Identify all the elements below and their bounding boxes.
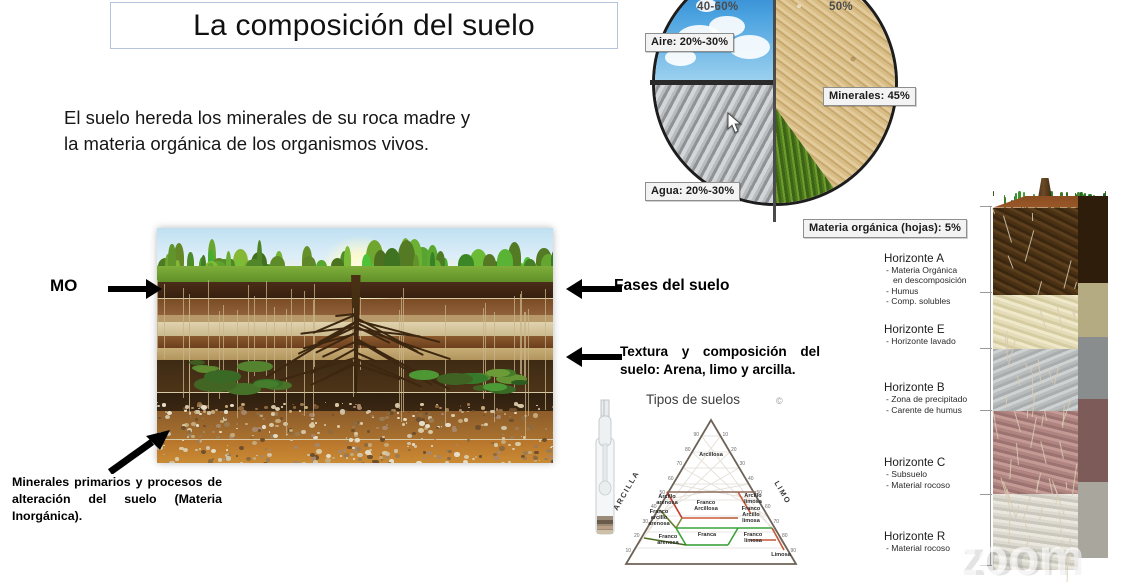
triangle-region-franco-arcillosa: Franco Arcillosa [688,500,724,512]
label-minerales-primarios: Minerales primarios y procesos de altera… [12,474,222,525]
pie-group-label-left: 40-60% [697,1,738,13]
label-textura-composicion: Textura y composición del suelo: Arena, … [620,343,820,378]
intro-line-1: El suelo hereda los minerales de su roca… [64,105,584,131]
horizon-legend: Horizonte A - Materia Orgánica en descom… [884,252,980,554]
triangle-region-arcillo-limosa: Arcillo limosa [738,493,768,505]
horizon-b-detail-1: - Zona de precipitado [884,394,980,404]
triangle-region-franco-arcillo-limosa: Franco Arcillo limosa [736,506,766,524]
horizon-b-detail-2: - Carente de humus [884,405,980,415]
pie-vertical-divider [773,0,776,222]
triangle-region-franco-arenosa: Franco arenosa [653,534,683,546]
triangle-region-arcillosa: Arcillosa [690,452,732,458]
label-fases-del-suelo: Fases del suelo [614,277,729,295]
side-layer-a [1078,196,1108,283]
horizon-e-title: Horizonte E [884,323,980,336]
horizon-entry-c: Horizonte C - Subsuelo - Material rocoso [884,456,980,490]
soil-hydrometer-apparatus [592,398,618,538]
horizon-c-title: Horizonte C [884,456,980,469]
copyright-icon: © [776,396,783,406]
callout-materia-organica: Materia orgánica (hojas): 5% [803,219,967,238]
side-layer-e [1078,283,1108,337]
horizon-depth-bracket [978,206,992,566]
side-layer-b [1078,337,1108,399]
horizon-a-detail-3: - Humus [884,286,980,296]
horizon-c-detail-1: - Subsuelo [884,469,980,479]
horizon-a-title: Horizonte A [884,252,980,265]
slide-title-box: La composición del suelo [110,2,618,49]
soil-cross-section-image [157,228,553,463]
pie-horizontal-divider [650,80,776,85]
horizon-a-detail-1: - Materia Orgánica [884,265,980,275]
callout-agua: Agua: 20%-30% [645,182,740,201]
page-title: La composición del suelo [193,9,535,43]
triangle-title: Tipos de suelos [646,392,740,407]
triangle-region-franco-arcillo-arenosa: Franco arcillo arenosa [644,509,674,527]
horizon-entry-a: Horizonte A - Materia Orgánica en descom… [884,252,980,307]
intro-line-2: la materia orgánica de los organismos vi… [64,131,584,157]
zoom-watermark: zoom [952,528,1084,588]
column-side-face [1078,196,1108,558]
triangle-region-franca: Franca [692,532,722,538]
horizon-entry-e: Horizonte E - Horizonte lavado [884,323,980,346]
side-layer-c [1078,399,1108,482]
callout-minerales: Minerales: 45% [823,87,916,106]
label-mo: MO [50,276,77,296]
soil-profile-column-image [993,196,1108,570]
column-front-face [993,208,1078,570]
triangle-svg [620,414,802,570]
mouse-cursor [727,112,743,134]
horizon-a-detail-2: en descomposición [884,275,980,285]
horizon-e-detail-1: - Horizonte lavado [884,336,980,346]
callout-aire: Aire: 20%-30% [645,33,734,52]
texture-triangle: Arcillosa Arcillo arenosa Franco arcillo… [620,414,802,570]
soil-texture-triangle-diagram: Tipos de suelos © [594,392,844,570]
horizon-a-detail-4: - Comp. solubles [884,296,980,306]
intro-paragraph: El suelo hereda los minerales de su roca… [64,105,584,158]
pie-group-label-right: 50% [829,1,853,13]
horizon-entry-b: Horizonte B - Zona de precipitado - Care… [884,381,980,415]
horizon-c-detail-2: - Material rocoso [884,480,980,490]
triangle-region-franco-limosa: Franco limosa [738,532,768,544]
arrow-minerales-diagonal [108,428,172,474]
horizon-b-title: Horizonte B [884,381,980,394]
